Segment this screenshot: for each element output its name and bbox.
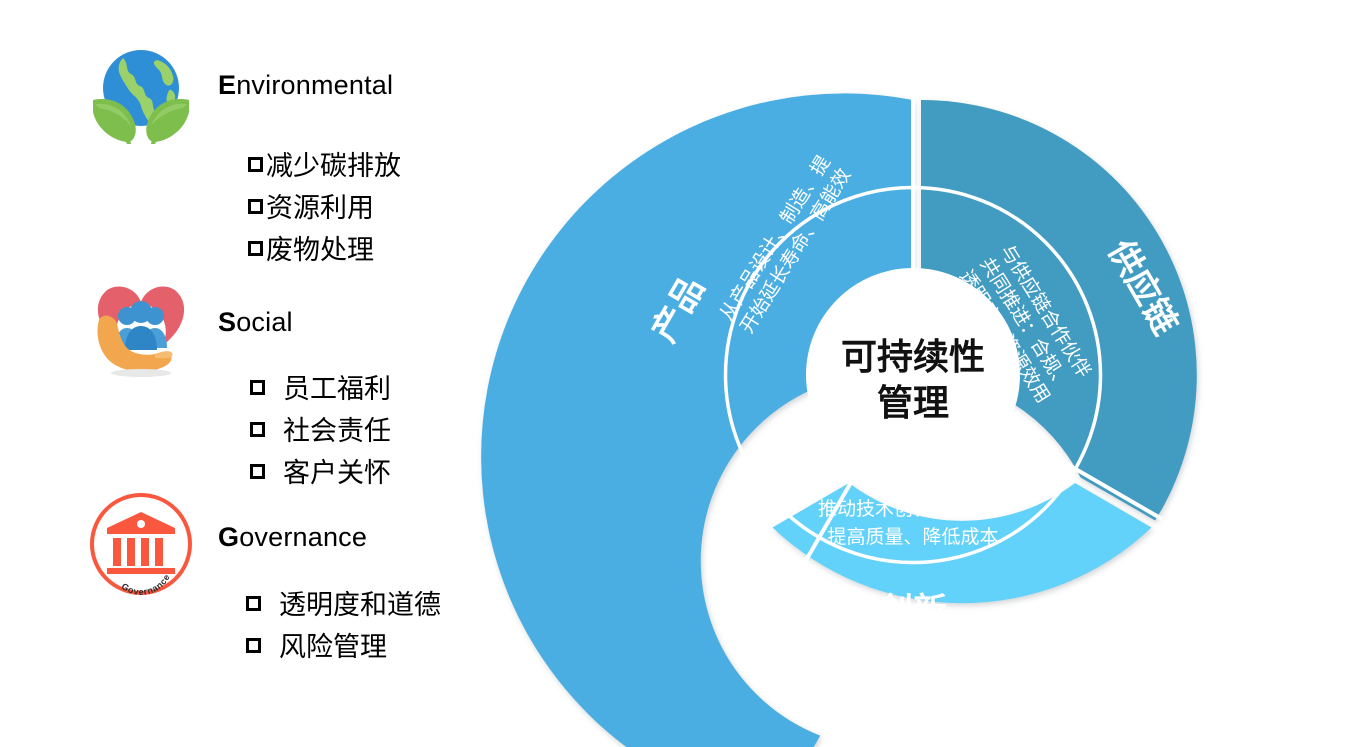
list-item-label: 资源利用	[266, 187, 374, 229]
pillar-title-environmental: Environmental	[218, 70, 393, 101]
list-item: 员工福利	[250, 368, 391, 410]
list-item: 风险管理	[246, 626, 441, 668]
sustainability-donut-diagram: 产品 供应链 创新 从产品设计、制造、提 开始延长寿命、高能效 与供应链合作伙伴…	[620, 60, 1240, 700]
list-item: 减少碳排放	[248, 145, 401, 187]
pillar-items-governance: 透明度和道德 风险管理	[246, 584, 441, 668]
checkbox-icon	[250, 464, 265, 479]
svg-text:Governance: Governance	[120, 572, 172, 597]
pillar-title-rest-g: overnance	[239, 522, 367, 552]
pillar-title-rest-s: ocial	[236, 307, 293, 337]
svg-text:提高质量、降低成本: 提高质量、降低成本	[827, 526, 998, 548]
pillar-title-social: Social	[218, 307, 293, 338]
pillar-items-social: 员工福利 社会责任 客户关怀	[250, 368, 391, 494]
checkbox-icon	[248, 199, 263, 214]
segment-label-innovation: 创新	[878, 592, 947, 630]
list-item: 客户关怀	[250, 452, 391, 494]
donut-center-title-line1: 可持续性	[841, 336, 985, 377]
list-item-label: 废物处理	[266, 229, 374, 271]
pillar-initial-g: G	[218, 522, 239, 552]
list-item-label: 减少碳排放	[266, 145, 401, 187]
checkbox-icon	[250, 380, 265, 395]
svg-text:推动技术创新与研发，: 推动技术创新与研发，	[818, 498, 1008, 520]
checkbox-icon	[246, 596, 261, 611]
governance-bank-seal-icon: Governance	[85, 488, 197, 600]
pillar-items-environmental: 减少碳排放 资源利用 废物处理	[248, 145, 401, 271]
list-item-label: 风险管理	[279, 626, 387, 668]
list-item: 透明度和道德	[246, 584, 441, 626]
donut-center-title-line2: 管理	[877, 382, 949, 423]
list-item: 废物处理	[248, 229, 401, 271]
pillar-initial-e: E	[218, 70, 236, 100]
list-item: 资源利用	[248, 187, 401, 229]
list-item-label: 客户关怀	[283, 452, 391, 494]
list-item: 社会责任	[250, 410, 391, 452]
checkbox-icon	[248, 241, 263, 256]
globe-leaves-icon	[85, 38, 197, 150]
pillar-initial-s: S	[218, 307, 236, 337]
heart-people-hand-icon	[85, 272, 197, 384]
list-item-label: 社会责任	[283, 410, 391, 452]
pillar-title-governance: Governance	[218, 522, 367, 553]
list-item-label: 员工福利	[283, 368, 391, 410]
governance-seal-caption: Governance	[120, 572, 172, 597]
checkbox-icon	[248, 157, 263, 172]
checkbox-icon	[246, 638, 261, 653]
pillar-title-rest-e: nvironmental	[236, 70, 393, 100]
checkbox-icon	[250, 422, 265, 437]
list-item-label: 透明度和道德	[279, 584, 441, 626]
